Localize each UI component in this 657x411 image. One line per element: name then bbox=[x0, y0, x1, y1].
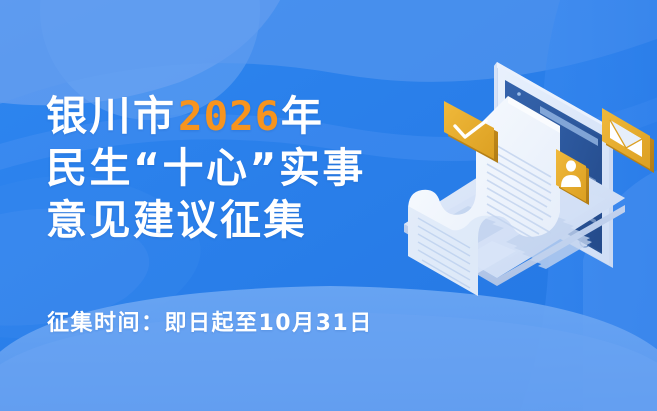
laptop-illustration bbox=[0, 0, 657, 411]
promo-banner: 银川市2026年 民生“十心”实事 意见建议征集 征集时间：即日起至10月31日 bbox=[0, 0, 657, 411]
checkmark-card bbox=[444, 101, 498, 163]
